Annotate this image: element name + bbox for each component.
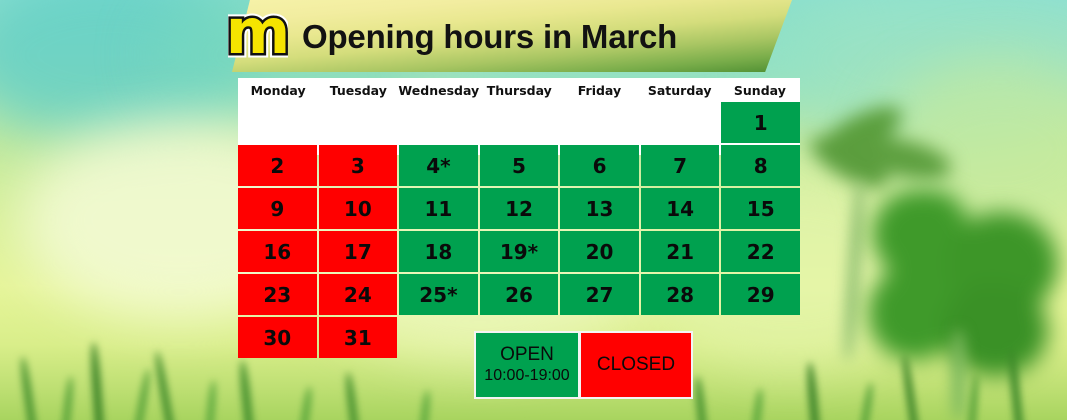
- calendar-day-cell[interactable]: 16: [238, 231, 317, 272]
- weekday-header-friday: Friday: [559, 78, 639, 102]
- calendar-day-cell[interactable]: 15: [721, 188, 800, 229]
- calendar-day-cell[interactable]: 9: [238, 188, 317, 229]
- calendar-day-cell[interactable]: 14: [641, 188, 720, 229]
- calendar-day-cell[interactable]: 28: [641, 274, 720, 315]
- calendar-cell-empty: [319, 102, 398, 143]
- calendar-day-cell[interactable]: 5: [480, 145, 559, 186]
- legend-open-label: OPEN: [500, 345, 554, 366]
- calendar-day-cell[interactable]: 13: [560, 188, 639, 229]
- calendar-day-cell[interactable]: 10: [319, 188, 398, 229]
- clover-icon: [868, 190, 1067, 390]
- calendar-day-cell[interactable]: 7: [641, 145, 720, 186]
- calendar-day-cell[interactable]: 2: [238, 145, 317, 186]
- calendar-cell-empty: [238, 102, 317, 143]
- calendar: MondayTuesdayWednesdayThursdayFridaySatu…: [238, 78, 800, 155]
- calendar-day-cell[interactable]: 19*: [480, 231, 559, 272]
- calendar-cell-empty: [721, 317, 800, 358]
- legend-closed-label: CLOSED: [597, 355, 675, 376]
- calendar-day-cell[interactable]: 21: [641, 231, 720, 272]
- clover-stem: [952, 330, 965, 420]
- calendar-day-cell[interactable]: 11: [399, 188, 478, 229]
- calendar-grid: 1234*5678910111213141516171819*202122232…: [238, 102, 800, 358]
- calendar-cell-empty: [641, 102, 720, 143]
- legend-open: OPEN 10:00-19:00: [476, 333, 578, 397]
- calendar-day-cell[interactable]: 26: [480, 274, 559, 315]
- weekday-header-saturday: Saturday: [640, 78, 720, 102]
- calendar-cell-empty: [399, 102, 478, 143]
- calendar-day-cell[interactable]: 23: [238, 274, 317, 315]
- m-logo-svg: m m m: [228, 8, 288, 60]
- legend: OPEN 10:00-19:00 CLOSED: [474, 331, 693, 399]
- calendar-day-cell[interactable]: 24: [319, 274, 398, 315]
- calendar-weekday-header: MondayTuesdayWednesdayThursdayFridaySatu…: [238, 78, 800, 102]
- calendar-day-cell[interactable]: 30: [238, 317, 317, 358]
- m-logo-letter: m: [228, 8, 288, 60]
- calendar-day-cell[interactable]: 12: [480, 188, 559, 229]
- legend-closed: CLOSED: [578, 333, 691, 397]
- page-title: Opening hours in March: [302, 18, 677, 56]
- calendar-day-cell[interactable]: 17: [319, 231, 398, 272]
- weekday-header-wednesday: Wednesday: [398, 78, 479, 102]
- calendar-day-cell[interactable]: 8: [721, 145, 800, 186]
- calendar-day-cell[interactable]: 29: [721, 274, 800, 315]
- calendar-day-cell[interactable]: 1: [721, 102, 800, 143]
- calendar-day-cell[interactable]: 4*: [399, 145, 478, 186]
- calendar-day-cell[interactable]: 25*: [399, 274, 478, 315]
- calendar-day-cell[interactable]: 20: [560, 231, 639, 272]
- weekday-header-thursday: Thursday: [479, 78, 559, 102]
- calendar-cell-empty: [480, 102, 559, 143]
- calendar-cell-empty: [399, 317, 478, 358]
- calendar-day-cell[interactable]: 22: [721, 231, 800, 272]
- calendar-cell-empty: [560, 102, 639, 143]
- legend-open-hours: 10:00-19:00: [484, 366, 569, 385]
- calendar-day-cell[interactable]: 31: [319, 317, 398, 358]
- weekday-header-tuesday: Tuesday: [318, 78, 398, 102]
- weekday-header-monday: Monday: [238, 78, 318, 102]
- calendar-day-cell[interactable]: 27: [560, 274, 639, 315]
- weekday-header-sunday: Sunday: [720, 78, 800, 102]
- calendar-day-cell[interactable]: 6: [560, 145, 639, 186]
- m-logo-icon: m m m: [228, 8, 288, 60]
- calendar-day-cell[interactable]: 18: [399, 231, 478, 272]
- calendar-day-cell[interactable]: 3: [319, 145, 398, 186]
